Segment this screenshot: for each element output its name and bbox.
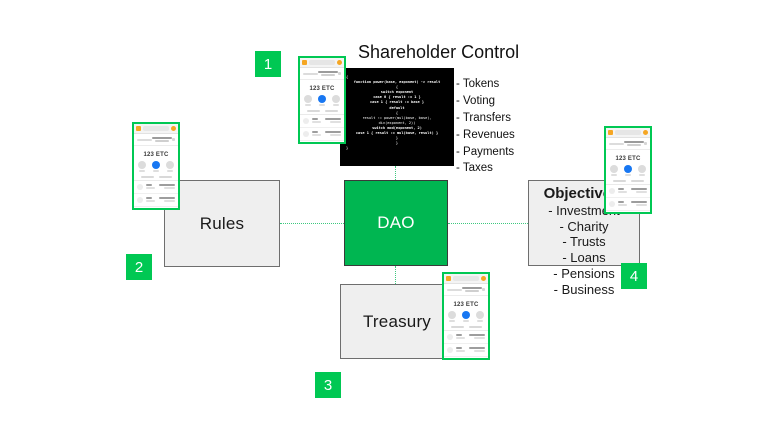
feature-item-voting: - Voting — [456, 93, 515, 110]
menu-icon[interactable] — [644, 142, 647, 145]
phone-mockup-4[interactable]: 123 ETC — [604, 126, 652, 214]
token-icon — [303, 118, 309, 124]
network-label — [447, 289, 462, 291]
phone-tabs[interactable] — [444, 324, 488, 331]
objective-item-trusts: - Trusts — [562, 234, 605, 250]
list-item[interactable] — [606, 185, 650, 198]
rules-box[interactable]: Rules — [164, 180, 280, 267]
send-button[interactable] — [152, 161, 160, 172]
feature-item-tokens: - Tokens — [456, 76, 515, 93]
objective-item-loans: - Loans — [562, 250, 605, 266]
step-badge-3[interactable]: 3 — [315, 372, 341, 398]
objective-item-pensions: - Pensions — [553, 266, 614, 282]
app-logo-icon — [608, 130, 613, 135]
swap-button[interactable] — [332, 95, 340, 106]
token-icon — [447, 347, 453, 353]
dao-box[interactable]: DAO — [344, 180, 448, 266]
list-item[interactable] — [444, 331, 488, 344]
dao-box-label: DAO — [377, 213, 414, 233]
phone-actions — [134, 160, 178, 174]
phone-tabs[interactable] — [134, 174, 178, 181]
buy-button[interactable] — [138, 161, 146, 172]
network-label — [303, 73, 318, 75]
phone-topbar — [444, 274, 488, 284]
swap-button[interactable] — [476, 311, 484, 322]
swap-button[interactable] — [638, 165, 646, 176]
balance-value: 123 ETC — [300, 80, 344, 94]
token-icon — [609, 201, 615, 207]
address-tab[interactable] — [309, 60, 335, 65]
menu-icon[interactable] — [482, 288, 485, 291]
phone-actions — [300, 94, 344, 108]
app-logo-icon — [446, 276, 451, 281]
address-tab[interactable] — [143, 126, 169, 131]
list-item[interactable] — [134, 181, 178, 194]
phone-account-bar — [300, 68, 344, 80]
diagram-canvas: Shareholder Control { function power(bas… — [0, 0, 780, 439]
rules-box-label: Rules — [200, 214, 244, 234]
avatar[interactable] — [643, 130, 648, 135]
phone-topbar — [300, 58, 344, 68]
buy-button[interactable] — [304, 95, 312, 106]
balance-value: 123 ETC — [444, 296, 488, 310]
step-badge-1[interactable]: 1 — [255, 51, 281, 77]
phone-actions — [444, 310, 488, 324]
send-button[interactable] — [462, 311, 470, 322]
feature-item-taxes: - Taxes — [456, 160, 515, 177]
token-icon — [303, 131, 309, 137]
connector-dao-objectives — [448, 223, 528, 224]
avatar[interactable] — [481, 276, 486, 281]
page-title: Shareholder Control — [358, 42, 519, 63]
list-item[interactable] — [444, 344, 488, 357]
token-icon — [447, 334, 453, 340]
feature-item-payments: - Payments — [456, 144, 515, 161]
list-item[interactable] — [300, 115, 344, 128]
feature-list: - Tokens - Voting - Transfers - Revenues… — [456, 76, 515, 177]
token-icon — [609, 188, 615, 194]
avatar[interactable] — [337, 60, 342, 65]
list-item[interactable] — [606, 198, 650, 211]
address-tab[interactable] — [453, 276, 479, 281]
phone-mockup-2[interactable]: 123 ETC — [132, 122, 180, 210]
phone-actions — [606, 164, 650, 178]
network-label — [137, 139, 152, 141]
list-item[interactable] — [134, 194, 178, 207]
account-name — [318, 71, 338, 76]
code-line: } — [346, 146, 448, 151]
phone-account-bar — [444, 284, 488, 296]
feature-item-transfers: - Transfers — [456, 110, 515, 127]
buy-button[interactable] — [448, 311, 456, 322]
phone-tabs[interactable] — [606, 178, 650, 185]
code-panel: { function power(base, exponent) -> resu… — [340, 68, 454, 166]
app-logo-icon — [302, 60, 307, 65]
account-name — [624, 141, 644, 146]
objective-item-business: - Business — [554, 282, 615, 298]
network-label — [609, 143, 624, 145]
swap-button[interactable] — [166, 161, 174, 172]
buy-button[interactable] — [610, 165, 618, 176]
objective-item-charity: - Charity — [559, 219, 608, 235]
balance-value: 123 ETC — [606, 150, 650, 164]
token-icon — [137, 197, 143, 203]
step-badge-2[interactable]: 2 — [126, 254, 152, 280]
connector-dao-treasury — [395, 266, 396, 284]
step-badge-4[interactable]: 4 — [621, 263, 647, 289]
menu-icon[interactable] — [172, 138, 175, 141]
account-name — [152, 137, 172, 142]
avatar[interactable] — [171, 126, 176, 131]
treasury-box-label: Treasury — [363, 312, 431, 332]
list-item[interactable] — [300, 128, 344, 141]
phone-mockup-1[interactable]: 123 ETC — [298, 56, 346, 144]
send-button[interactable] — [318, 95, 326, 106]
send-button[interactable] — [624, 165, 632, 176]
phone-account-bar — [134, 134, 178, 146]
phone-mockup-3[interactable]: 123 ETC — [442, 272, 490, 360]
menu-icon[interactable] — [338, 72, 341, 75]
connector-code-dao — [395, 166, 396, 180]
account-name — [462, 287, 482, 292]
token-icon — [137, 184, 143, 190]
phone-tabs[interactable] — [300, 108, 344, 115]
phone-account-bar — [606, 138, 650, 150]
feature-item-revenues: - Revenues — [456, 127, 515, 144]
connector-rules-dao — [280, 223, 344, 224]
address-tab[interactable] — [615, 130, 641, 135]
phone-topbar — [606, 128, 650, 138]
balance-value: 123 ETC — [134, 146, 178, 160]
treasury-box[interactable]: Treasury — [340, 284, 454, 359]
phone-topbar — [134, 124, 178, 134]
app-logo-icon — [136, 126, 141, 131]
